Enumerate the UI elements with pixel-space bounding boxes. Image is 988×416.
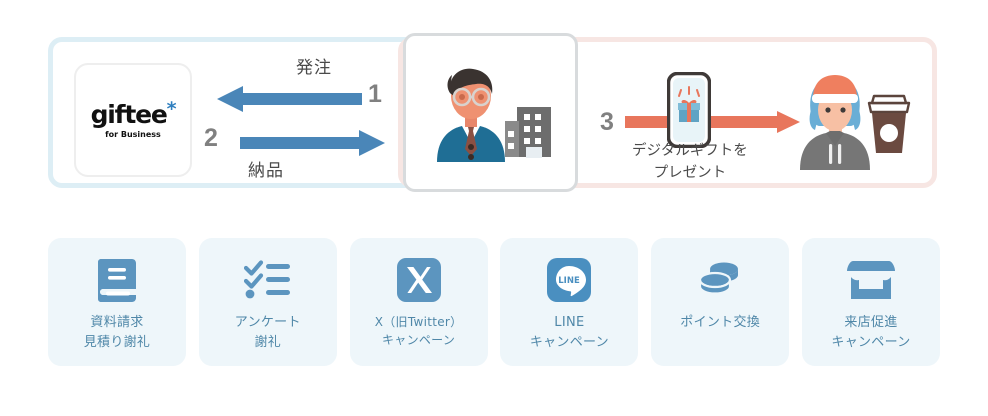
usecase-label: 来店促進 キャンペーン: [831, 313, 910, 352]
businessman-office-icon: [421, 63, 561, 163]
giftee-subtitle: for Business: [105, 130, 161, 139]
store-icon: [846, 255, 896, 305]
usecase-label: LINE キャンペーン: [530, 313, 609, 352]
usecase-card-document-request[interactable]: 資料請求 見積り謝礼: [48, 238, 186, 366]
phone-gift-icon: [667, 72, 711, 148]
business-user-card: [403, 33, 578, 192]
book-icon: [96, 255, 138, 305]
line-icon: LINE: [547, 255, 591, 305]
svg-text:LINE: LINE: [559, 276, 581, 286]
step-3-label: デジタルギフトを プレゼント: [632, 140, 748, 185]
giftee-wordmark: giftee*: [91, 102, 176, 127]
office-building-icon: [505, 107, 551, 158]
step-1-label: 発注: [296, 53, 332, 78]
coins-icon: [696, 255, 744, 305]
usecase-card-x-twitter[interactable]: X（旧Twitter） キャンペーン: [350, 238, 488, 366]
usecase-label: ポイント交換: [680, 313, 760, 333]
flow-diagram: giftee* for Business 発注 1 2 納品: [0, 0, 988, 220]
usecase-card-line[interactable]: LINE LINE キャンペーン: [500, 238, 638, 366]
step-2-label: 納品: [248, 156, 284, 181]
usecase-label: X（旧Twitter） キャンペーン: [375, 313, 463, 349]
giftee-asterisk: *: [167, 98, 176, 120]
usecase-card-store-visit[interactable]: 来店促進 キャンペーン: [802, 238, 940, 366]
x-twitter-icon: [397, 255, 441, 305]
arrow-left-blue-icon: [217, 86, 362, 112]
checklist-icon: [244, 255, 292, 305]
step-3-label-line2: プレゼント: [632, 162, 748, 184]
step-3-label-line1: デジタルギフトを: [632, 140, 748, 162]
arrow-right-red-icon: [625, 111, 800, 133]
step-3-number: 3: [600, 108, 614, 137]
arrow-right-blue-icon: [240, 130, 385, 156]
person-figure: [437, 68, 505, 161]
step-1-number: 1: [368, 80, 382, 109]
usecase-card-survey[interactable]: アンケート 謝礼: [199, 238, 337, 366]
usecase-card-point-exchange[interactable]: ポイント交換: [651, 238, 789, 366]
giftee-word-text: giftee: [91, 100, 167, 129]
usecase-label: アンケート 謝礼: [235, 313, 301, 352]
usecase-label: 資料請求 見積り謝礼: [84, 313, 151, 352]
coffee-cup-icon: [866, 93, 912, 155]
giftee-logo-card: giftee* for Business: [74, 63, 192, 177]
order-delivery-arrows: 発注 1 2 納品: [200, 58, 390, 183]
usecase-card-row: 資料請求 見積り謝礼 アンケート 謝礼 X（旧Twitter） キャンペーン: [48, 238, 940, 368]
step-2-number: 2: [204, 124, 218, 153]
